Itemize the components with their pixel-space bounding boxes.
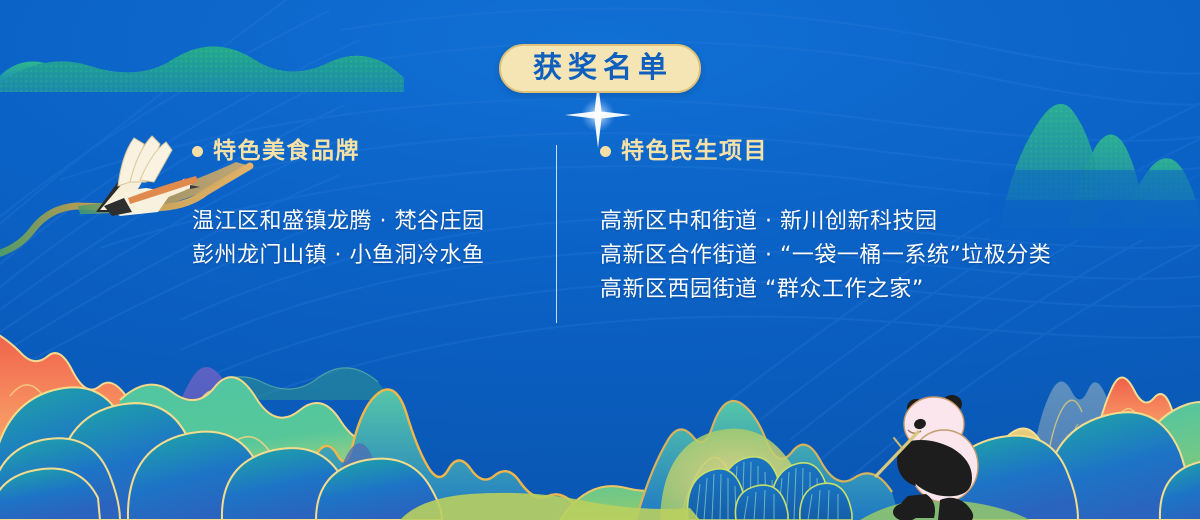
list-item: 彭州龙门山镇 · 小鱼洞冷水鱼 — [192, 239, 542, 273]
column-heading-livelihood: 特色民生项目 — [600, 140, 1140, 163]
award-list-food: 温江区和盛镇龙腾 · 梵谷庄园 彭州龙门山镇 · 小鱼洞冷水鱼 — [192, 205, 542, 273]
list-item: 高新区合作街道 · “一袋一桶一系统”垃极分类 — [600, 239, 1140, 273]
award-list-poster: 获奖名单 特色美食品牌 温江区和盛镇龙腾 · 梵谷庄园 彭州龙门山镇 · 小鱼洞… — [0, 0, 1200, 520]
bullet-dot-icon — [192, 146, 203, 157]
column-heading-label: 特色民生项目 — [621, 140, 768, 163]
page-title: 获奖名单 — [527, 53, 673, 82]
column-heading-food: 特色美食品牌 — [192, 140, 542, 163]
list-item: 高新区西园街道 “群众工作之家” — [600, 273, 1140, 307]
column-livelihood-project: 特色民生项目 高新区中和街道 · 新川创新科技园 高新区合作街道 · “一袋一桶… — [600, 140, 1140, 307]
column-heading-label: 特色美食品牌 — [213, 140, 360, 163]
bullet-dot-icon — [600, 146, 611, 157]
column-food-brand: 特色美食品牌 温江区和盛镇龙腾 · 梵谷庄园 彭州龙门山镇 · 小鱼洞冷水鱼 — [192, 140, 542, 273]
title-badge: 获奖名单 — [499, 44, 701, 93]
mountains-top-left — [0, 46, 404, 92]
column-divider — [556, 145, 557, 323]
list-item: 温江区和盛镇龙腾 · 梵谷庄园 — [192, 205, 542, 239]
list-item: 高新区中和街道 · 新川创新科技园 — [600, 205, 1140, 239]
award-list-livelihood: 高新区中和街道 · 新川创新科技园 高新区合作街道 · “一袋一桶一系统”垃极分… — [600, 205, 1140, 307]
